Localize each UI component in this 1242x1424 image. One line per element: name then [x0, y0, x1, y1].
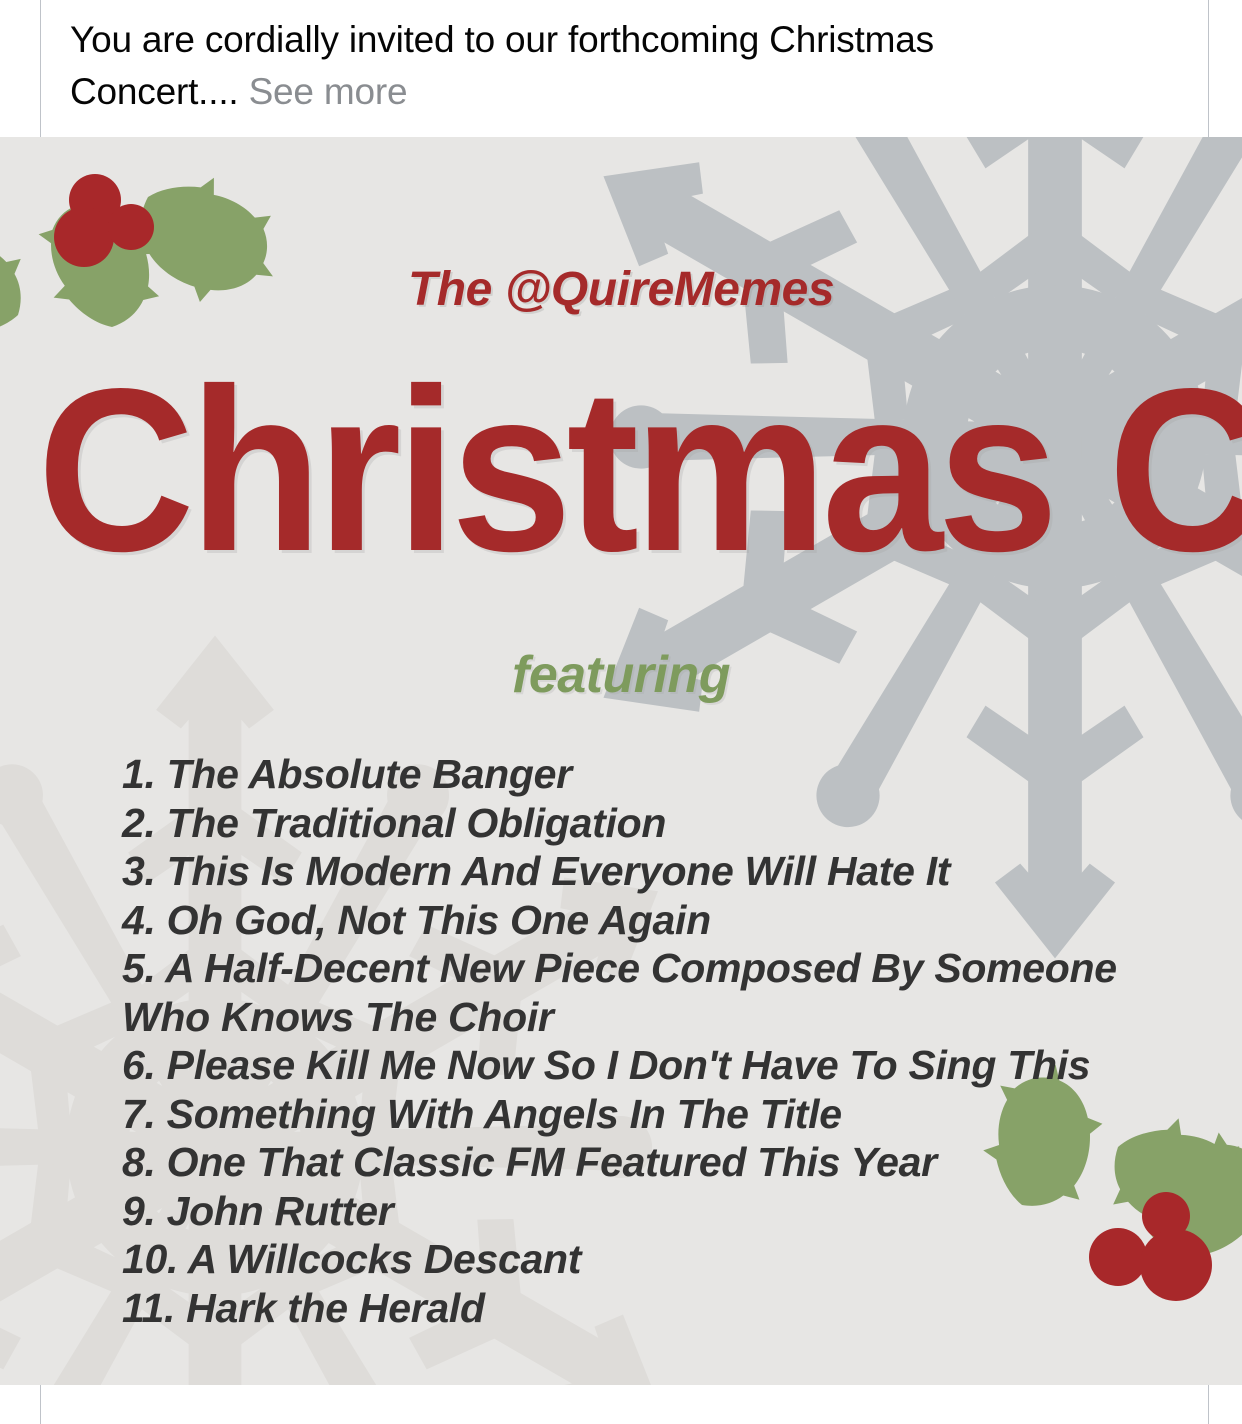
- poster-tracklist: 1. The Absolute Banger 2. The Traditiona…: [122, 750, 1182, 1332]
- tracklist-item: 9. John Rutter: [122, 1187, 1182, 1236]
- post-caption-text: You are cordially invited to our forthco…: [70, 19, 934, 112]
- tracklist-item-continuation: Who Knows The Choir: [122, 993, 1182, 1042]
- see-more-link[interactable]: See more: [249, 71, 408, 112]
- tracklist-item: 8. One That Classic FM Featured This Yea…: [122, 1138, 1182, 1187]
- screenshot-root: You are cordially invited to our forthco…: [0, 0, 1242, 1424]
- tracklist-item: 3. This Is Modern And Everyone Will Hate…: [122, 847, 1182, 896]
- poster-image[interactable]: The @QuireMemes Christmas Concert featur…: [0, 137, 1242, 1385]
- tracklist-item: 4. Oh God, Not This One Again: [122, 896, 1182, 945]
- tracklist-item: 1. The Absolute Banger: [122, 750, 1182, 799]
- poster-featuring-label: featuring: [0, 645, 1242, 705]
- poster-title: Christmas Concert: [37, 355, 1204, 587]
- post-card-right-border: [1208, 0, 1209, 137]
- poster-handle: The @QuireMemes: [0, 262, 1242, 317]
- poster-handle-name: @QuireMemes: [505, 263, 834, 316]
- poster-handle-prefix: The: [408, 263, 505, 316]
- post-card-right-border-bottom: [1208, 1385, 1209, 1424]
- tracklist-item: 5. A Half-Decent New Piece Composed By S…: [122, 944, 1182, 993]
- post-caption: You are cordially invited to our forthco…: [70, 14, 1080, 118]
- tracklist-item: 2. The Traditional Obligation: [122, 799, 1182, 848]
- tracklist-item: 10. A Willcocks Descant: [122, 1235, 1182, 1284]
- post-card-left-border: [40, 0, 41, 137]
- post-card-left-border-bottom: [40, 1385, 41, 1424]
- holly-top-left-icon: [0, 161, 295, 351]
- clipped-text-above: [72, 0, 1172, 4]
- tracklist-item: 6. Please Kill Me Now So I Don't Have To…: [122, 1041, 1182, 1090]
- tracklist-item: 7. Something With Angels In The Title: [122, 1090, 1182, 1139]
- tracklist-item: 11. Hark the Herald: [122, 1284, 1182, 1333]
